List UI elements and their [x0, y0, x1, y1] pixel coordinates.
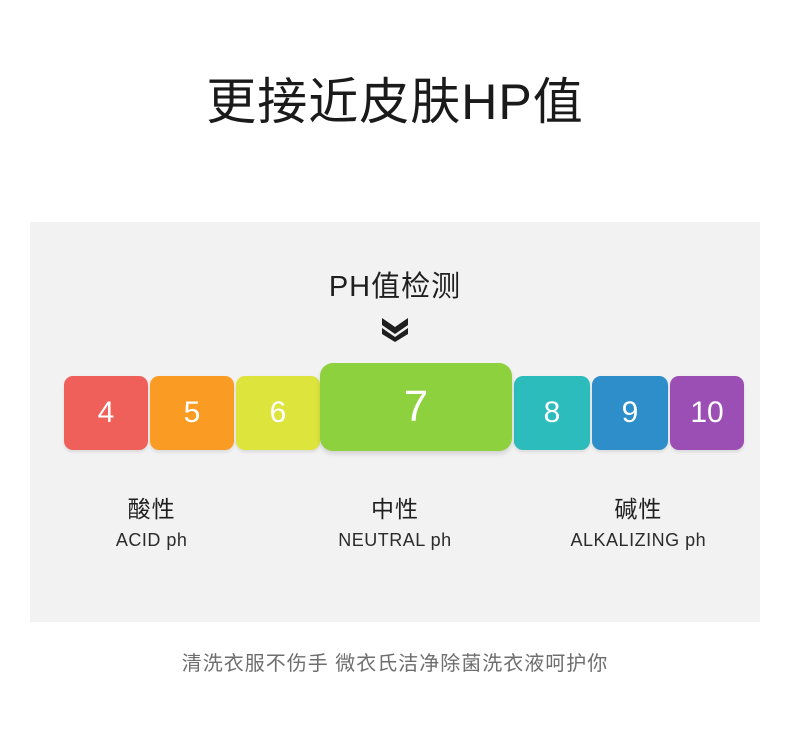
- ph-segment-label: 10: [690, 396, 723, 430]
- ph-segment-9: 9: [592, 376, 668, 450]
- ph-test-heading: PH值检测: [30, 270, 760, 304]
- page-title: 更接近皮肤HP值: [0, 72, 790, 132]
- ph-category-label-en: NEUTRAL ph: [273, 529, 516, 552]
- footer-caption: 清洗衣服不伤手 微衣氏洁净除菌洗衣液呵护你: [0, 650, 790, 678]
- ph-segment-6: 6: [236, 376, 320, 450]
- ph-category-label-cn: 中性: [273, 494, 516, 524]
- ph-segment-4: 4: [64, 376, 148, 450]
- ph-category-label-cn: 碱性: [517, 494, 760, 524]
- ph-category-labels: 酸性 ACID ph 中性 NEUTRAL ph 碱性 ALKALIZING p…: [30, 494, 760, 552]
- ph-panel: PH值检测 4 5 6 7 8 9 10 酸性 ACID ph 中性 NEUTR…: [30, 222, 760, 622]
- ph-category-label-en: ALKALIZING ph: [517, 529, 760, 552]
- ph-segment-7: 7: [320, 363, 512, 451]
- ph-scale-bar: 4 5 6 7 8 9 10: [64, 363, 744, 451]
- ph-segment-label: 6: [270, 396, 287, 430]
- ph-segment-8: 8: [514, 376, 590, 450]
- ph-category-label-en: ACID ph: [30, 529, 273, 552]
- ph-segment-label: 5: [184, 396, 201, 430]
- ph-segment-10: 10: [670, 376, 744, 450]
- ph-segment-label: 9: [622, 396, 639, 430]
- ph-segment-label: 8: [544, 396, 561, 430]
- ph-category-acid: 酸性 ACID ph: [30, 494, 273, 552]
- ph-category-label-cn: 酸性: [30, 494, 273, 524]
- ph-segment-label: 7: [404, 382, 428, 432]
- double-chevron-down-icon: [30, 316, 760, 342]
- ph-category-alkaline: 碱性 ALKALIZING ph: [517, 494, 760, 552]
- ph-segment-5: 5: [150, 376, 234, 450]
- ph-category-neutral: 中性 NEUTRAL ph: [273, 494, 516, 552]
- ph-segment-label: 4: [98, 396, 115, 430]
